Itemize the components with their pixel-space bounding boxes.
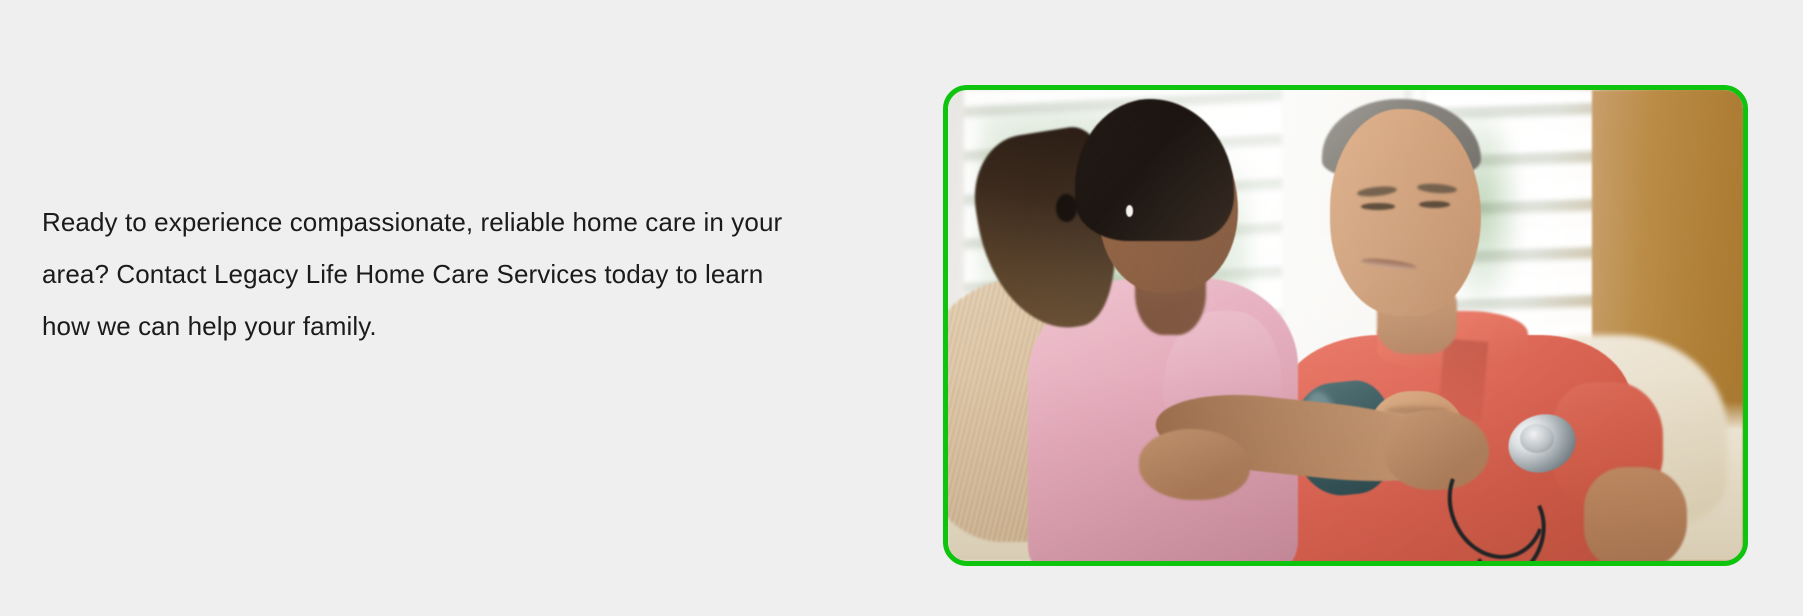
patient-eye-right xyxy=(1419,201,1451,208)
cta-paragraph: Ready to experience compassionate, relia… xyxy=(42,196,802,352)
nurse-hair-tie xyxy=(1056,194,1077,222)
home-care-photo xyxy=(948,90,1743,561)
nurse-supporting-hand xyxy=(1139,429,1250,500)
nurse-earring xyxy=(1126,205,1133,216)
patient-head xyxy=(1330,109,1481,316)
cta-copy-column: Ready to experience compassionate, relia… xyxy=(42,196,802,352)
cta-photo-card xyxy=(943,85,1748,566)
patient-eye-left xyxy=(1361,203,1394,210)
home-care-cta-section: Ready to experience compassionate, relia… xyxy=(0,0,1803,616)
patient-forearm xyxy=(1584,467,1687,561)
stethoscope-diaphragm xyxy=(1520,424,1553,452)
